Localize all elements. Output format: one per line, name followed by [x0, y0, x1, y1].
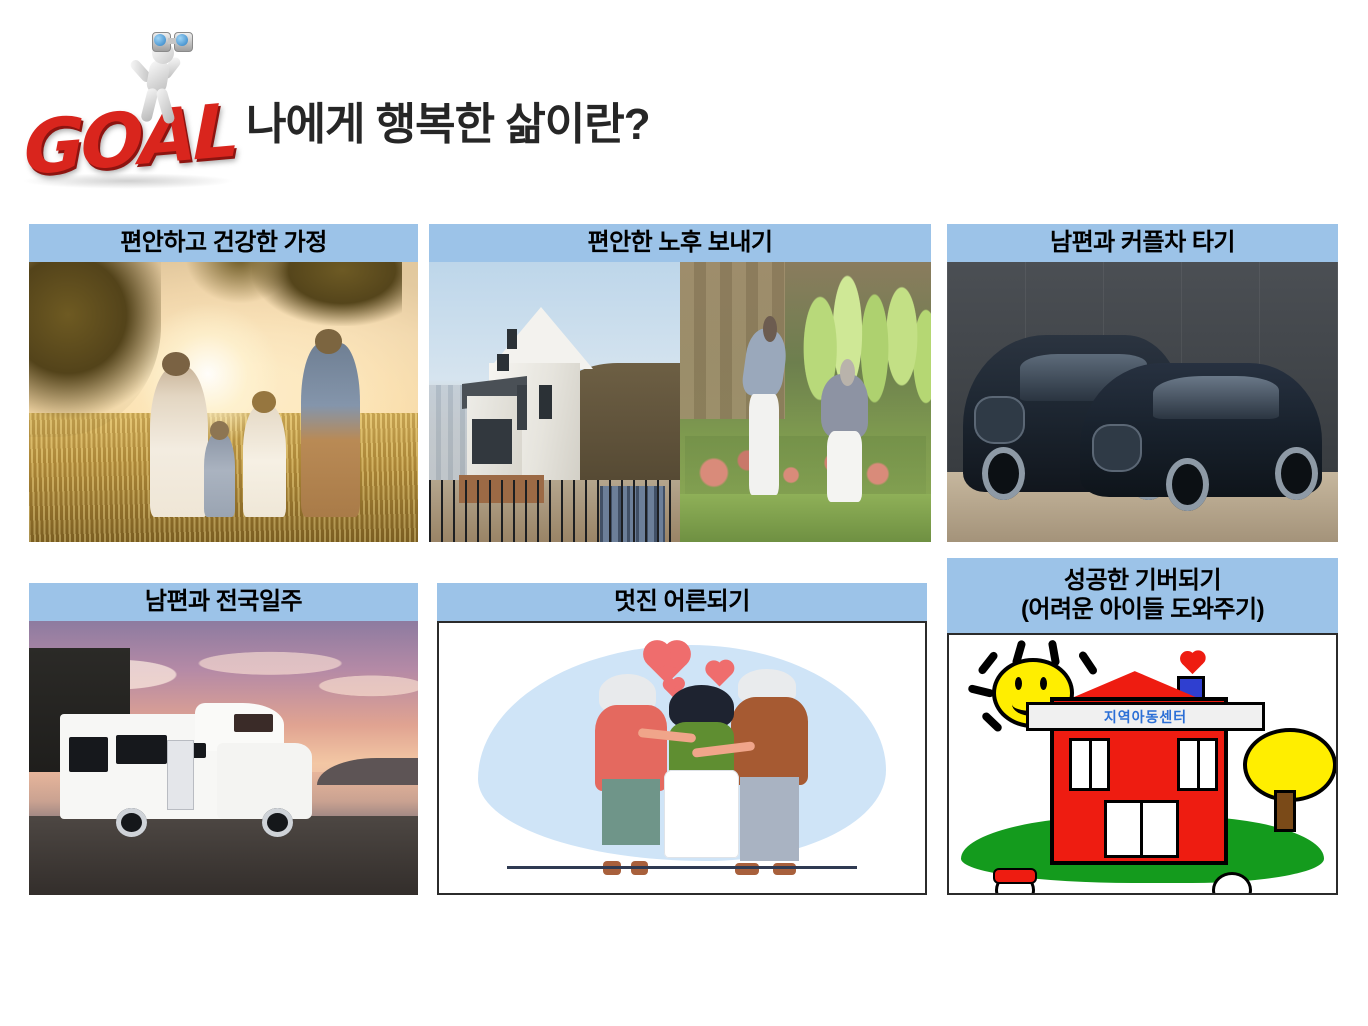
grandfather-figure: [731, 669, 809, 869]
sun-eye: [1015, 677, 1022, 690]
figure-leg-right: [155, 87, 175, 125]
caption-line-2: (어려운 아이들 도와주기): [1021, 596, 1264, 624]
binocular-lens-left: [154, 34, 166, 46]
caption-line-1: 성공한 기버되기: [1064, 567, 1221, 595]
mother-silhouette: [150, 366, 208, 517]
page-title: 나에게 행복한 삶이란?: [246, 88, 650, 152]
senior-standing: [745, 329, 785, 491]
card-caption: 남편과 커플차 타기: [947, 224, 1338, 262]
rv-window: [116, 735, 166, 764]
card-caption: 편안한 노후 보내기: [429, 224, 931, 262]
child-girl-silhouette: [243, 405, 286, 517]
card-nationwide-trip-with-husband[interactable]: 남편과 전국일주: [29, 583, 418, 895]
card-image-pair: [429, 262, 931, 542]
motorhome-vehicle: [60, 703, 340, 835]
card-caption: 편안하고 건강한 가정: [29, 224, 418, 262]
card-successful-giver[interactable]: 성공한 기버되기 (어려운 아이들 도와주기): [947, 558, 1338, 895]
house-door: [1104, 800, 1180, 858]
card-image: [29, 262, 418, 542]
card-comfortable-healthy-family[interactable]: 편안하고 건강한 가정: [29, 224, 418, 542]
young-woman-figure: [663, 685, 741, 869]
children-center-illustration: 지역아동센터: [949, 635, 1336, 893]
caption-line-1: 멋진 어른되기: [614, 588, 750, 616]
sedan-grille: [1092, 424, 1143, 472]
house-window: [517, 385, 527, 430]
card-couple-car-with-husband[interactable]: 남편과 커플차 타기: [947, 224, 1338, 542]
rv-front-wheel: [262, 808, 293, 837]
house-window: [1177, 738, 1218, 790]
sun-ray: [977, 651, 999, 676]
sun-ray: [968, 684, 995, 698]
senior-crouching: [821, 374, 869, 497]
caption-line-1: 편안한 노후 보내기: [588, 229, 773, 257]
gardening-photo: [680, 262, 931, 542]
binocular-bridge: [168, 38, 176, 44]
suv-front-wheel: [982, 447, 1025, 500]
flower-bed: [685, 436, 926, 498]
caption-line-1: 편안하고 건강한 가정: [120, 229, 327, 257]
house-window: [497, 354, 510, 371]
rv-rear-wheel: [116, 808, 147, 837]
rv-window: [69, 737, 108, 771]
sedan-front-wheel: [1166, 458, 1209, 511]
card-comfortable-retirement[interactable]: 편안한 노후 보내기: [429, 224, 931, 542]
suv-grille: [974, 396, 1025, 444]
rv-door: [167, 740, 194, 810]
child-small-silhouette: [204, 433, 235, 517]
goal-figure-icon: [122, 26, 206, 128]
card-image: 지역아동센터: [947, 633, 1338, 895]
center-sign: 지역아동센터: [1026, 702, 1264, 731]
family-sunset-photo: [29, 262, 418, 542]
family-hug-illustration: [439, 623, 925, 893]
tree-trunk: [1274, 790, 1296, 832]
sun-ray: [1078, 650, 1099, 676]
grandmother-figure: [595, 674, 668, 868]
father-silhouette: [301, 343, 359, 517]
card-caption: 성공한 기버되기 (어려운 아이들 도와주기): [947, 558, 1338, 633]
floor-line: [507, 866, 857, 869]
binoculars-icon: [152, 32, 194, 50]
card-image: [29, 621, 418, 895]
house-glass-door: [472, 419, 512, 464]
card-become-wonderful-adult[interactable]: 멋진 어른되기: [437, 583, 927, 895]
sun-eye: [1040, 677, 1047, 690]
house-window: [539, 385, 552, 419]
rv-driver-cab: [217, 743, 312, 819]
house-window: [1069, 738, 1110, 790]
card-image: [947, 262, 1338, 542]
rv-overcab-window: [234, 714, 273, 732]
house-photo: [429, 262, 680, 542]
binocular-lens-right: [176, 34, 188, 46]
iron-fence: [429, 480, 680, 542]
slide-canvas: GOAL 나에게 행복한 삶이란? 편안하고 건강한 가정: [0, 0, 1368, 1026]
motorhome-sunset-photo: [29, 621, 418, 895]
heart-icon: [1182, 653, 1203, 674]
lawn: [680, 494, 931, 542]
caption-line-1: 남편과 전국일주: [145, 588, 302, 616]
luxury-cars-photo: [947, 262, 1338, 542]
card-image: [437, 621, 927, 895]
card-caption: 멋진 어른되기: [437, 583, 927, 621]
card-caption: 남편과 전국일주: [29, 583, 418, 621]
house-window: [507, 329, 517, 349]
caption-line-1: 남편과 커플차 타기: [1050, 229, 1235, 257]
tree-branch-center: [185, 262, 295, 304]
goal-logo-graphic: GOAL: [14, 8, 236, 190]
